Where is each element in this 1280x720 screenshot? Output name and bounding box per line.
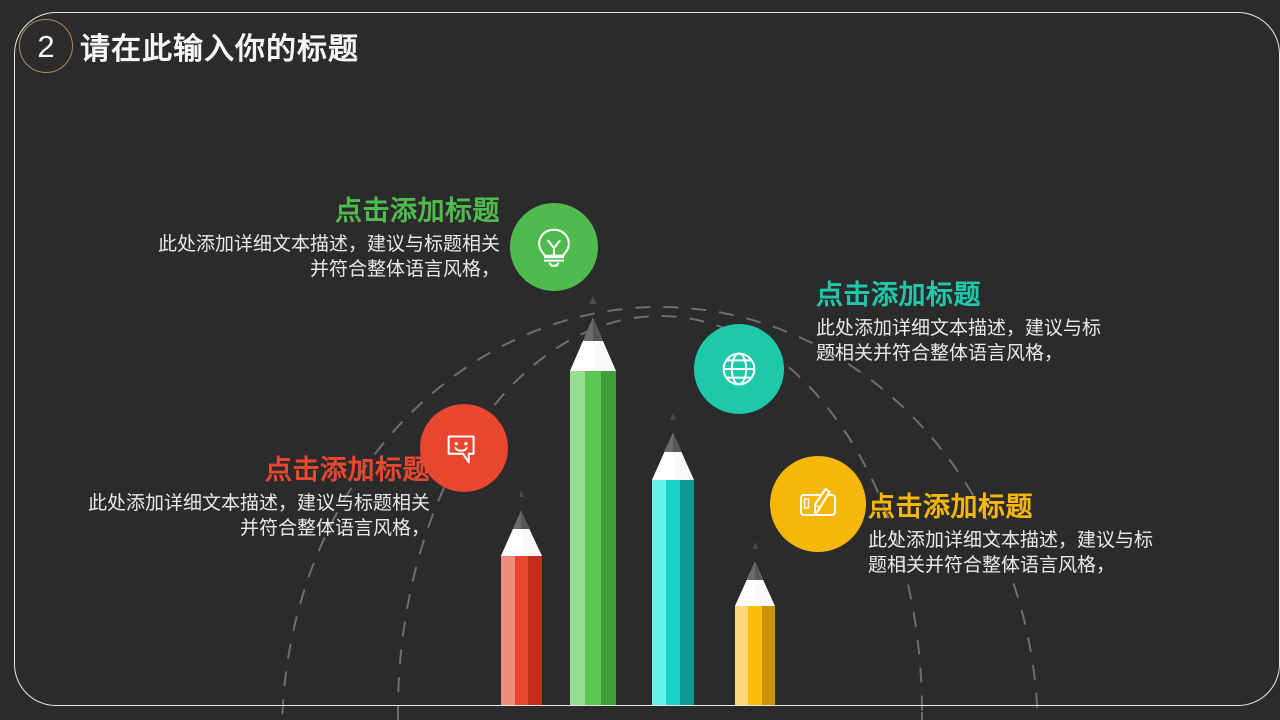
block-title-yellow: 点击添加标题 — [868, 492, 1158, 522]
icon-circle-chat[interactable] — [420, 404, 508, 492]
tablet-pen-icon — [794, 480, 842, 528]
pencil-green — [570, 296, 616, 705]
block-title-red: 点击添加标题 — [70, 455, 430, 485]
text-block-yellow: 点击添加标题 此处添加详细文本描述，建议与标题相关并符合整体语言风格， — [868, 492, 1158, 578]
block-body-teal: 此处添加详细文本描述，建议与标题相关并符合整体语言风格， — [816, 316, 1106, 366]
text-block-red: 点击添加标题 此处添加详细文本描述，建议与标题相关并符合整体语言风格， — [70, 455, 430, 541]
icon-circle-globe[interactable] — [694, 324, 784, 414]
chat-smiley-icon — [441, 425, 487, 471]
pencil-yellow — [735, 542, 775, 705]
section-number: 2 — [37, 31, 54, 62]
lightbulb-icon — [531, 224, 577, 270]
slide-canvas: 2 请在此输入你的标题 点击添加标题 此处添加详细文本描述，建议与标题相关并符合… — [0, 0, 1280, 720]
page-title: 请在此输入你的标题 — [80, 24, 359, 68]
pencil-red — [501, 490, 542, 705]
block-title-green: 点击添加标题 — [140, 196, 500, 226]
block-body-red: 此处添加详细文本描述，建议与标题相关并符合整体语言风格， — [70, 491, 430, 541]
block-body-green: 此处添加详细文本描述，建议与标题相关并符合整体语言风格， — [140, 232, 500, 282]
globe-icon — [716, 346, 762, 392]
block-body-yellow: 此处添加详细文本描述，建议与标题相关并符合整体语言风格， — [868, 528, 1158, 578]
icon-circle-lightbulb[interactable] — [510, 203, 598, 291]
text-block-green: 点击添加标题 此处添加详细文本描述，建议与标题相关并符合整体语言风格， — [140, 196, 500, 282]
pencil-teal — [652, 413, 694, 705]
slide-header: 2 请在此输入你的标题 — [0, 0, 1280, 84]
icon-circle-tablet[interactable] — [770, 456, 866, 552]
section-number-badge: 2 — [19, 19, 73, 73]
block-title-teal: 点击添加标题 — [816, 280, 1106, 310]
text-block-teal: 点击添加标题 此处添加详细文本描述，建议与标题相关并符合整体语言风格， — [816, 280, 1106, 366]
